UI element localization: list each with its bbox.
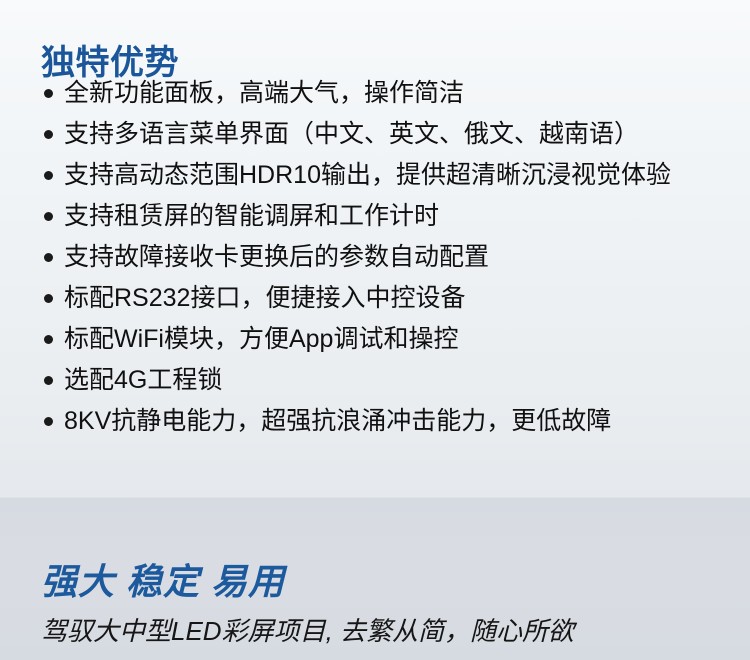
feature-list: 全新功能面板，高端大气，操作简洁 支持多语言菜单界面（中文、英文、俄文、越南语）… xyxy=(44,73,671,442)
list-item-label: 支持租赁屏的智能调屏和工作计时 xyxy=(64,196,439,237)
list-item-label: 支持高动态范围HDR10输出，提供超清晰沉浸视觉体验 xyxy=(64,155,671,196)
bullet-dot-icon xyxy=(44,294,53,303)
list-item: 标配RS232接口，便捷接入中控设备 xyxy=(44,278,671,319)
list-item: 标配WiFi模块，方便App调试和操控 xyxy=(44,319,671,360)
list-item: 全新功能面板，高端大气，操作简洁 xyxy=(44,73,671,114)
bullet-dot-icon xyxy=(44,376,53,385)
list-item-label: 8KV抗静电能力，超强抗浪涌冲击能力，更低故障 xyxy=(64,401,611,442)
bullet-dot-icon xyxy=(44,130,53,139)
bullet-dot-icon xyxy=(44,212,53,221)
marketing-slide: 独特优势 全新功能面板，高端大气，操作简洁 支持多语言菜单界面（中文、英文、俄文… xyxy=(0,0,750,660)
list-item: 支持多语言菜单界面（中文、英文、俄文、越南语） xyxy=(44,114,671,155)
tagline-heading: 强大 稳定 易用 xyxy=(41,560,285,604)
bullet-dot-icon xyxy=(44,253,53,262)
list-item-label: 标配WiFi模块，方便App调试和操控 xyxy=(64,319,458,360)
tagline-subheading: 驾驭大中型LED彩屏项目, 去繁从简，随心所欲 xyxy=(41,612,574,650)
list-item-label: 支持多语言菜单界面（中文、英文、俄文、越南语） xyxy=(64,114,639,155)
list-item-label: 选配4G工程锁 xyxy=(64,360,222,401)
list-item-label: 全新功能面板，高端大气，操作简洁 xyxy=(64,73,464,114)
tagline-section: 强大 稳定 易用 驾驭大中型LED彩屏项目, 去繁从简，随心所欲 xyxy=(0,497,750,660)
list-item: 选配4G工程锁 xyxy=(44,360,671,401)
list-item: 8KV抗静电能力，超强抗浪涌冲击能力，更低故障 xyxy=(44,401,671,442)
bullet-dot-icon xyxy=(44,335,53,344)
list-item: 支持租赁屏的智能调屏和工作计时 xyxy=(44,196,671,237)
bullet-dot-icon xyxy=(44,89,53,98)
bullet-dot-icon xyxy=(44,171,53,180)
list-item-label: 标配RS232接口，便捷接入中控设备 xyxy=(64,278,465,319)
bullet-dot-icon xyxy=(44,417,53,426)
list-item-label: 支持故障接收卡更换后的参数自动配置 xyxy=(64,237,489,278)
unique-advantages-section: 独特优势 全新功能面板，高端大气，操作简洁 支持多语言菜单界面（中文、英文、俄文… xyxy=(0,0,750,497)
list-item: 支持故障接收卡更换后的参数自动配置 xyxy=(44,237,671,278)
list-item: 支持高动态范围HDR10输出，提供超清晰沉浸视觉体验 xyxy=(44,155,671,196)
